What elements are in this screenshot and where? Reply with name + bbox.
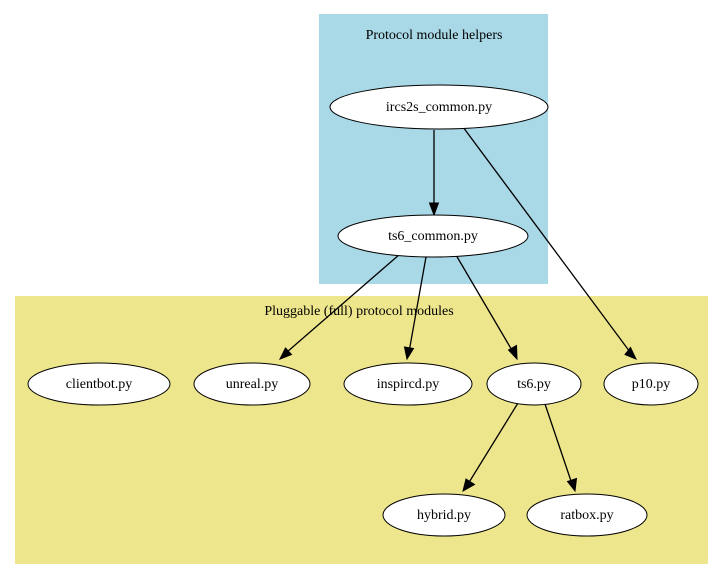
- node-ts6_common[interactable]: ts6_common.py: [338, 215, 528, 257]
- node-unreal[interactable]: unreal.py: [194, 363, 310, 405]
- node-ts6[interactable]: ts6.py: [487, 363, 581, 405]
- node-inspircd-label: inspircd.py: [377, 377, 440, 392]
- node-ratbox[interactable]: ratbox.py: [527, 494, 647, 536]
- node-hybrid[interactable]: hybrid.py: [383, 494, 505, 536]
- node-inspircd[interactable]: inspircd.py: [344, 363, 472, 405]
- node-unreal-label: unreal.py: [226, 377, 278, 392]
- cluster-protocol-helpers-label: Protocol module helpers: [366, 28, 503, 43]
- diagram-canvas: Protocol module helpersPluggable (full) …: [0, 0, 723, 580]
- cluster-pluggable-modules-label: Pluggable (full) protocol modules: [264, 304, 453, 319]
- node-ircs2s_common[interactable]: ircs2s_common.py: [330, 85, 548, 129]
- protocol-dependency-diagram: Protocol module helpersPluggable (full) …: [0, 0, 723, 580]
- node-ratbox-label: ratbox.py: [560, 508, 613, 523]
- node-p10[interactable]: p10.py: [604, 363, 698, 405]
- node-hybrid-label: hybrid.py: [417, 508, 471, 523]
- node-ts6_common-label: ts6_common.py: [388, 229, 478, 244]
- node-clientbot[interactable]: clientbot.py: [28, 363, 170, 405]
- node-p10-label: p10.py: [632, 377, 671, 392]
- node-ts6-label: ts6.py: [517, 377, 551, 392]
- node-clientbot-label: clientbot.py: [66, 377, 133, 392]
- node-ircs2s_common-label: ircs2s_common.py: [386, 100, 492, 115]
